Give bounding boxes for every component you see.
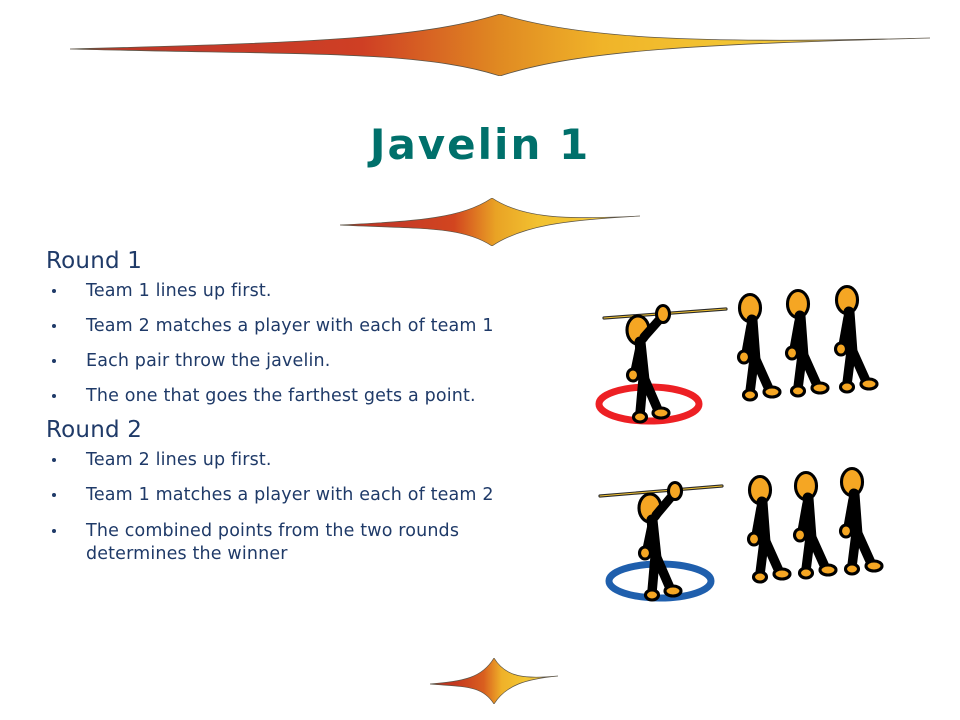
list-item-label: Team 2 lines up first.	[86, 450, 272, 470]
list-item: The one that goes the farthest gets a po…	[46, 385, 566, 408]
bullet-icon	[52, 529, 56, 533]
round-2-block: Round 2 Team 2 lines up first. Team 1 ma…	[46, 417, 566, 565]
list-item-label: Team 1 matches a player with each of tea…	[86, 485, 494, 505]
thrower-figure	[639, 483, 682, 601]
team-2-lineup-illustration	[592, 458, 902, 608]
waiting-figure	[749, 477, 791, 583]
bullet-icon	[52, 493, 56, 497]
bullet-icon	[52, 458, 56, 462]
waiting-figure	[795, 473, 837, 579]
waiting-figure	[841, 469, 883, 575]
round-1-list: Team 1 lines up first. Team 2 matches a …	[46, 280, 566, 408]
round-2-list: Team 2 lines up first. Team 1 matches a …	[46, 449, 566, 565]
list-item: Team 2 lines up first.	[46, 449, 566, 472]
round-1-heading: Round 1	[46, 248, 566, 274]
list-item: Team 1 matches a player with each of tea…	[46, 484, 566, 507]
list-item: The combined points from the two rounds …	[46, 520, 566, 566]
thrower-figure	[627, 306, 670, 423]
round-1-block: Round 1 Team 1 lines up first. Team 2 ma…	[46, 248, 566, 408]
list-item-label: Team 1 lines up first.	[86, 281, 272, 301]
bullet-icon	[52, 324, 56, 328]
javelin-icon	[600, 486, 722, 496]
list-item-label: The combined points from the two rounds …	[86, 521, 459, 564]
bottom-divider-ornament	[430, 658, 558, 704]
bullet-icon	[52, 394, 56, 398]
list-item-label: Each pair throw the javelin.	[86, 351, 330, 371]
page-title: Javelin 1	[0, 122, 960, 168]
waiting-figure	[739, 295, 781, 401]
round-2-heading: Round 2	[46, 417, 566, 443]
top-divider-ornament	[70, 14, 930, 76]
bullet-icon	[52, 359, 56, 363]
list-item-label: Team 2 matches a player with each of tea…	[86, 316, 494, 336]
mid-divider-ornament	[340, 198, 640, 246]
list-item: Team 1 lines up first.	[46, 280, 566, 303]
list-item: Each pair throw the javelin.	[46, 350, 566, 373]
waiting-figure	[836, 287, 878, 393]
list-item: Team 2 matches a player with each of tea…	[46, 315, 566, 338]
team-1-lineup-illustration	[592, 282, 902, 430]
waiting-figure	[787, 291, 829, 397]
bullet-icon	[52, 289, 56, 293]
slide-canvas: Javelin 1 Round 1	[0, 0, 960, 720]
list-item-label: The one that goes the farthest gets a po…	[86, 386, 476, 406]
slide-body: Round 1 Team 1 lines up first. Team 2 ma…	[46, 248, 566, 566]
